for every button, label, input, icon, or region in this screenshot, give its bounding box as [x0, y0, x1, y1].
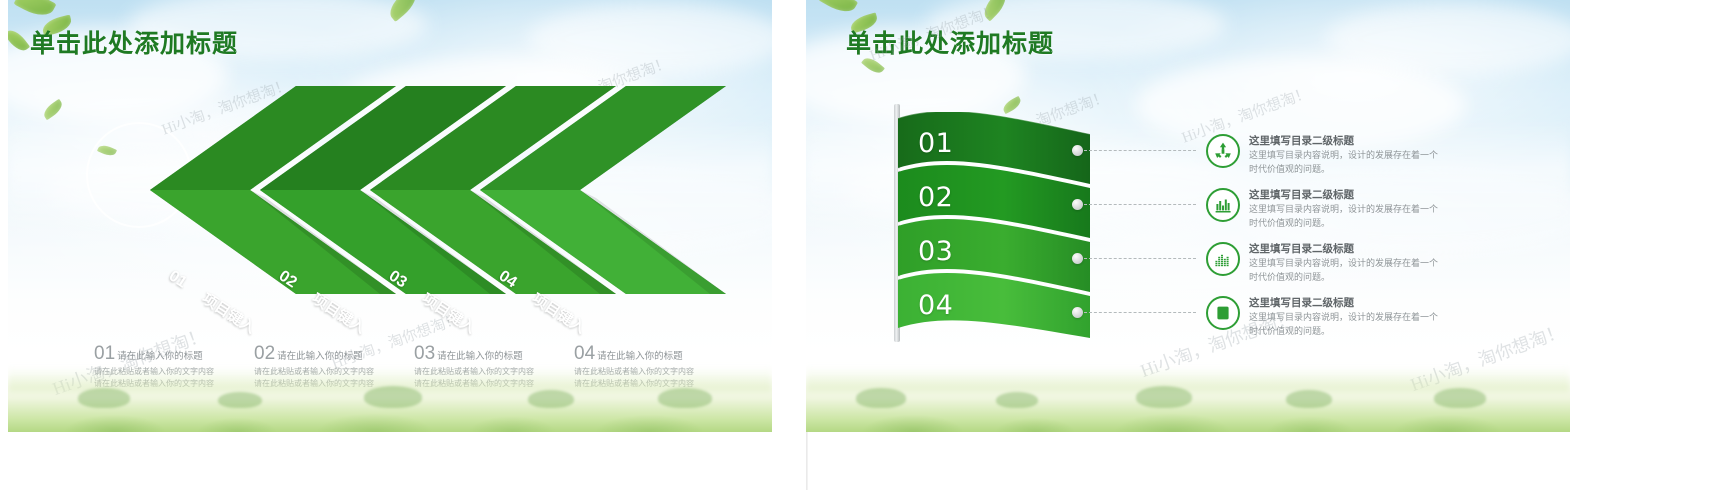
- caption-header: 04 请在此输入你的标题: [574, 344, 734, 363]
- leaf-icon: [385, 0, 422, 22]
- bush-decoration: [658, 388, 712, 408]
- flag-number-03: 03: [918, 236, 953, 267]
- chevron-diagram: 01 项目键入 02 项目键入 03 项目键入 04 项目键入: [8, 70, 772, 300]
- list-item-body-line: 时代价值观的问题。: [1249, 217, 1499, 231]
- list-item-heading: 这里填写目录二级标题: [1249, 297, 1499, 310]
- slide-chevrons: 单击此处添加标题 Hi小淘，淘你想淘！ Hi小淘，淘你想淘！ Hi小淘，淘你想淘…: [8, 0, 772, 432]
- bush-decoration: [1136, 386, 1192, 408]
- list-item-text: 这里填写目录二级标题 这里填写目录内容说明，设计的发展存在着一个 时代价值观的问…: [1249, 296, 1499, 338]
- caption-header: 03 请在此输入你的标题: [414, 344, 574, 363]
- caption-number: 02: [254, 344, 275, 363]
- connector-dot: [1072, 145, 1083, 156]
- caption-number: 01: [94, 344, 115, 363]
- connector-line: [1084, 258, 1196, 259]
- list-item-text: 这里填写目录二级标题 这里填写目录内容说明，设计的发展存在着一个 时代价值观的问…: [1249, 242, 1499, 284]
- equalizer-icon: [1206, 242, 1240, 276]
- list-item-body: 这里填写目录内容说明，设计的发展存在着一个 时代价值观的问题。: [1249, 203, 1499, 230]
- list-item-body: 这里填写目录内容说明，设计的发展存在着一个 时代价值观的问题。: [1249, 257, 1499, 284]
- caption-header: 02 请在此输入你的标题: [254, 344, 414, 363]
- page-title: 单击此处添加标题: [30, 24, 238, 60]
- flag-number-01: 01: [918, 128, 953, 159]
- document-icon: [1206, 296, 1240, 330]
- list-item-body-line: 时代价值观的问题。: [1249, 163, 1499, 177]
- bush-decoration: [364, 386, 422, 408]
- bush-decoration: [1286, 390, 1332, 408]
- list-item-body-line: 这里填写目录内容说明，设计的发展存在着一个: [1249, 311, 1499, 325]
- list-item-body-line: 这里填写目录内容说明，设计的发展存在着一个: [1249, 203, 1499, 217]
- caption-title: 请在此输入你的标题: [437, 352, 523, 363]
- bush-decoration: [996, 392, 1038, 408]
- list-item-body: 这里填写目录内容说明，设计的发展存在着一个 时代价值观的问题。: [1249, 311, 1499, 338]
- list-item[interactable]: 这里填写目录二级标题 这里填写目录内容说明，设计的发展存在着一个 时代价值观的问…: [1206, 188, 1499, 230]
- list-item-body-line: 这里填写目录内容说明，设计的发展存在着一个: [1249, 149, 1499, 163]
- caption-number: 04: [574, 344, 595, 363]
- bush-decoration: [856, 388, 906, 408]
- connector-dot: [1072, 253, 1083, 264]
- flag-diagram: 01 02 03 04: [894, 112, 1194, 342]
- flag-number-04: 04: [918, 290, 953, 321]
- connector-dot: [1072, 307, 1083, 318]
- recycle-icon: [1206, 134, 1240, 168]
- list-item[interactable]: 这里填写目录二级标题 这里填写目录内容说明，设计的发展存在着一个 时代价值观的问…: [1206, 242, 1499, 284]
- leaf-icon: [818, 0, 858, 18]
- cloud-decoration: [1326, 4, 1570, 74]
- caption-number: 03: [414, 344, 435, 363]
- bush-decoration: [1434, 388, 1486, 408]
- bar-chart-icon: [1206, 188, 1240, 222]
- cloud-decoration: [528, 4, 772, 74]
- list-item-body: 这里填写目录内容说明，设计的发展存在着一个 时代价值观的问题。: [1249, 149, 1499, 176]
- list-item-body-line: 时代价值观的问题。: [1249, 325, 1499, 339]
- leaf-icon: [979, 0, 1011, 22]
- flag-number-02: 02: [918, 182, 953, 213]
- list-item-text: 这里填写目录二级标题 这里填写目录内容说明，设计的发展存在着一个 时代价值观的问…: [1249, 188, 1499, 230]
- list-item-heading: 这里填写目录二级标题: [1249, 135, 1499, 148]
- list-item-body-line: 这里填写目录内容说明，设计的发展存在着一个: [1249, 257, 1499, 271]
- leaf-icon: [8, 26, 30, 54]
- list-item-heading: 这里填写目录二级标题: [1249, 243, 1499, 256]
- page-title: 单击此处添加标题: [846, 24, 1054, 60]
- connector-dot: [1072, 199, 1083, 210]
- bush-decoration: [528, 390, 574, 408]
- caption-header: 01 请在此输入你的标题: [94, 344, 254, 363]
- connector-line: [1084, 312, 1196, 313]
- caption-title: 请在此输入你的标题: [597, 352, 683, 363]
- connector-line: [1084, 204, 1196, 205]
- slide-flag: 单击此处添加标题 Hi小淘，淘你想淘！ Hi小淘，淘你想淘！ Hi小淘，淘你想淘…: [806, 0, 1570, 432]
- leaf-icon: [14, 0, 57, 22]
- list-item-text: 这里填写目录二级标题 这里填写目录内容说明，设计的发展存在着一个 时代价值观的问…: [1249, 134, 1499, 176]
- connector-line: [1084, 150, 1196, 151]
- bush-decoration: [218, 392, 262, 408]
- bush-decoration: [78, 388, 130, 408]
- list-item[interactable]: 这里填写目录二级标题 这里填写目录内容说明，设计的发展存在着一个 时代价值观的问…: [1206, 134, 1499, 176]
- caption-title: 请在此输入你的标题: [117, 352, 203, 363]
- list-item-heading: 这里填写目录二级标题: [1249, 189, 1499, 202]
- list-item-body-line: 时代价值观的问题。: [1249, 271, 1499, 285]
- caption-title: 请在此输入你的标题: [277, 352, 363, 363]
- list-item[interactable]: 这里填写目录二级标题 这里填写目录内容说明，设计的发展存在着一个 时代价值观的问…: [1206, 296, 1499, 338]
- chevron-shape-04[interactable]: [480, 86, 730, 296]
